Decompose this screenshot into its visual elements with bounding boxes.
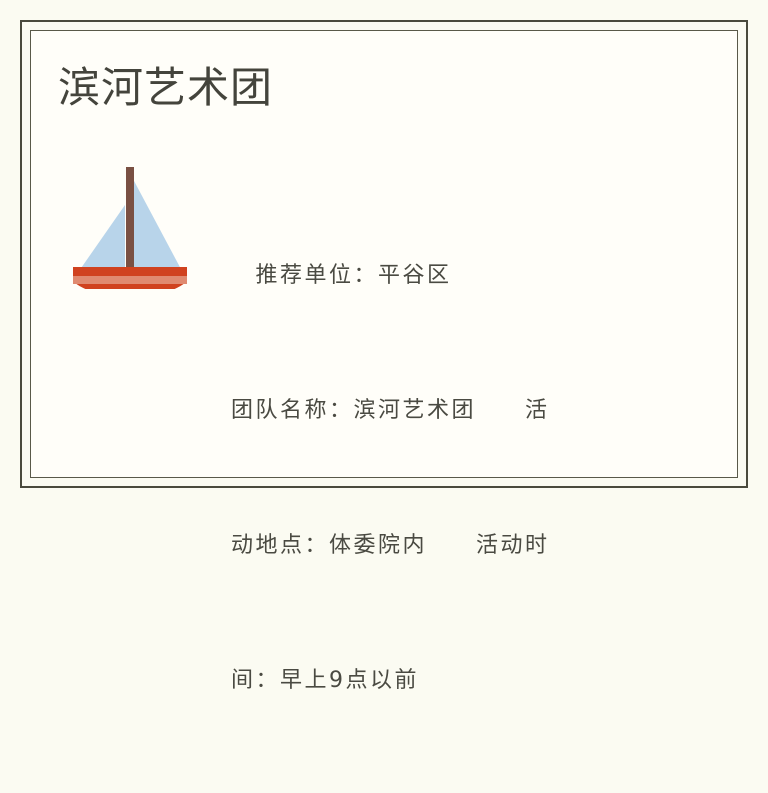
outer-border-frame: 滨河艺术团 推荐单位：平谷区 团队名称：滨河艺术团 活 xyxy=(20,20,748,488)
info-text-block: 推荐单位：平谷区 团队名称：滨河艺术团 活 动地点：体委院内 活动时 间：早上9… xyxy=(231,163,621,793)
card-content: 滨河艺术团 推荐单位：平谷区 团队名称：滨河艺术团 活 xyxy=(31,31,737,477)
info-line: 推荐单位：平谷区 xyxy=(231,253,621,298)
sailboat-icon xyxy=(69,161,191,289)
info-line: 间：早上9点以前 xyxy=(231,658,621,703)
page-title: 滨河艺术团 xyxy=(58,63,273,113)
inner-border-frame: 滨河艺术团 推荐单位：平谷区 团队名称：滨河艺术团 活 xyxy=(30,30,738,478)
info-line: 动地点：体委院内 活动时 xyxy=(231,523,621,568)
info-line: 团队名称：滨河艺术团 活 xyxy=(231,388,621,433)
